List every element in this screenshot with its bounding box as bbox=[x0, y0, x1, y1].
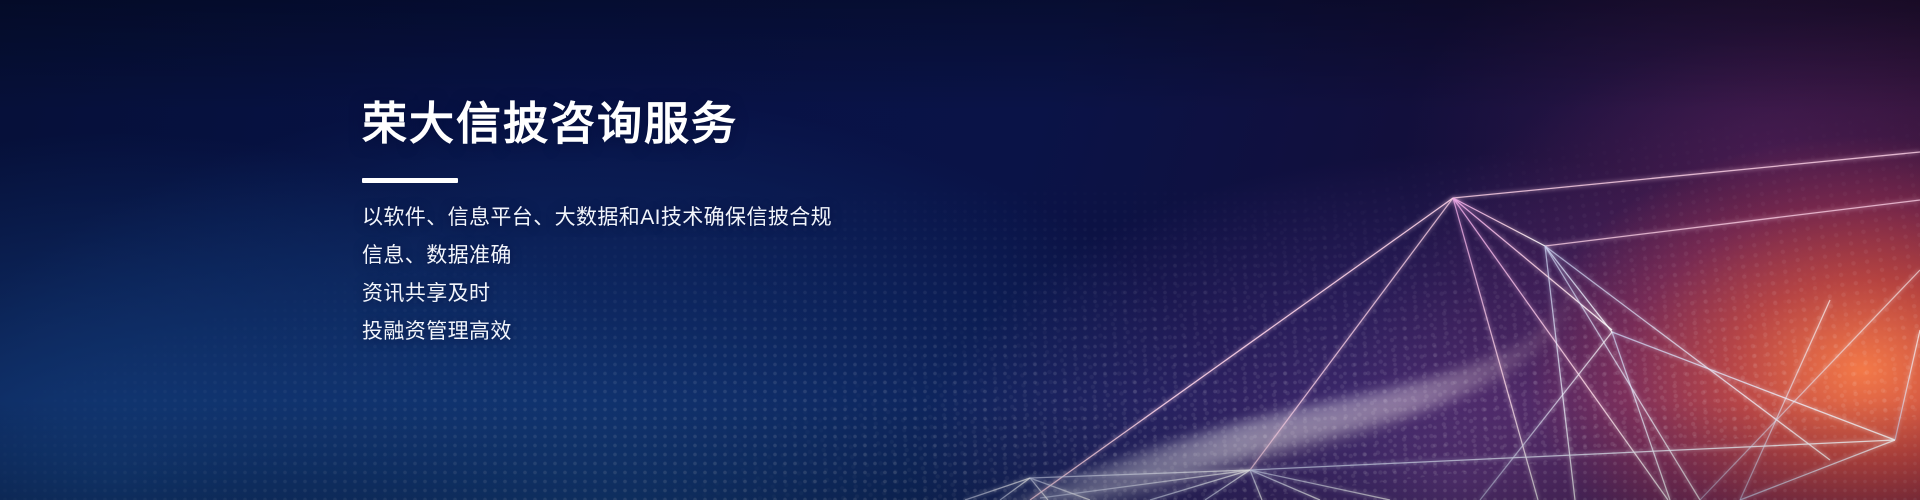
subtitle-line: 以软件、信息平台、大数据和AI技术确保信披合规 bbox=[362, 199, 1262, 237]
subtitle-line: 资讯共享及时 bbox=[362, 275, 1262, 313]
hero-banner: 荣大信披咨询服务 以软件、信息平台、大数据和AI技术确保信披合规 信息、数据准确… bbox=[0, 0, 1920, 500]
subtitle-list: 以软件、信息平台、大数据和AI技术确保信披合规 信息、数据准确 资讯共享及时 投… bbox=[362, 199, 1262, 351]
banner-content: 荣大信披咨询服务 以软件、信息平台、大数据和AI技术确保信披合规 信息、数据准确… bbox=[362, 98, 1262, 351]
title-divider bbox=[362, 178, 458, 183]
page-title: 荣大信披咨询服务 bbox=[362, 98, 1262, 150]
subtitle-line: 投融资管理高效 bbox=[362, 313, 1262, 351]
subtitle-line: 信息、数据准确 bbox=[362, 237, 1262, 275]
